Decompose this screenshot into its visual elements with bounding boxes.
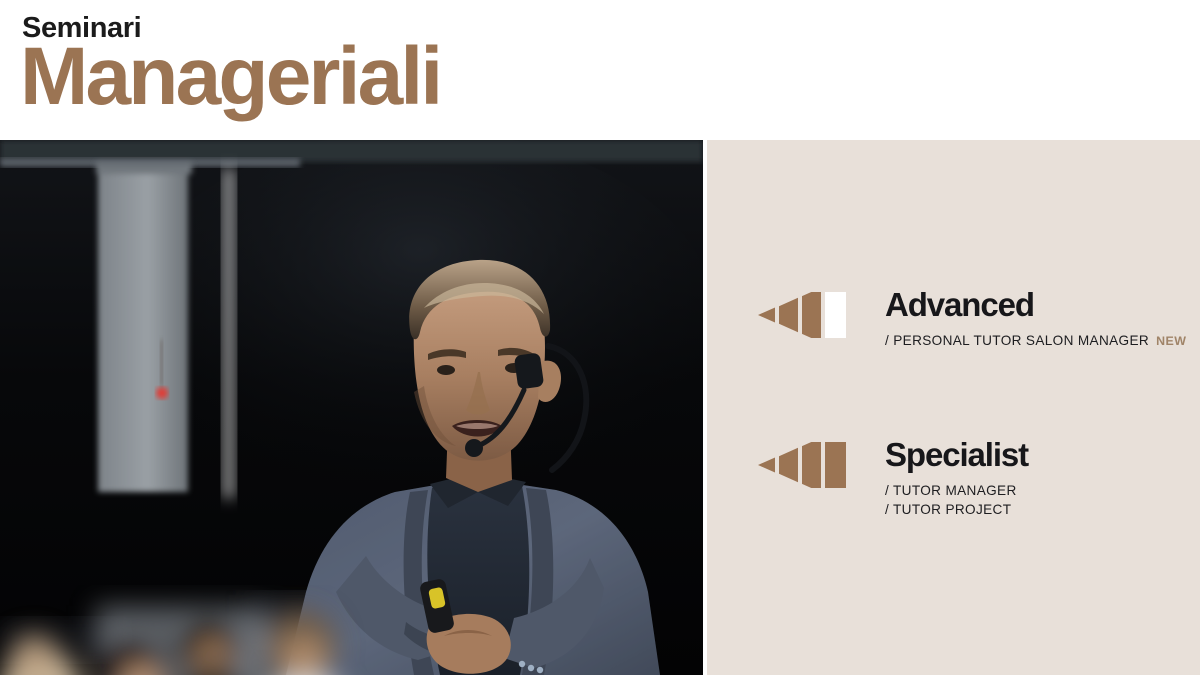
speaker-photo-illustration bbox=[0, 140, 703, 675]
chevron-arrow-left-icon bbox=[758, 292, 848, 338]
tier-item-label: / TUTOR MANAGER bbox=[885, 483, 1017, 498]
tier-item-label: / TUTOR PROJECT bbox=[885, 502, 1011, 517]
tier-body-specialist: Specialist / TUTOR MANAGER / TUTOR PROJE… bbox=[885, 438, 1200, 520]
tier-item-label: / PERSONAL TUTOR SALON MANAGER bbox=[885, 333, 1149, 348]
status-badge-new: NEW bbox=[1156, 334, 1186, 348]
tier-item[interactable]: / PERSONAL TUTOR SALON MANAGERNEW bbox=[885, 331, 1200, 351]
chevron-arrow-left-icon bbox=[758, 442, 848, 488]
page-title: Manageriali bbox=[20, 36, 440, 118]
tier-item-list-specialist: / TUTOR MANAGER / TUTOR PROJECT bbox=[885, 481, 1200, 520]
slide-header: Seminari Manageriali bbox=[0, 0, 1200, 139]
tier-item[interactable]: / TUTOR MANAGER bbox=[885, 481, 1200, 501]
slide-root: Seminari Manageriali bbox=[0, 0, 1200, 675]
speaker-photo bbox=[0, 140, 703, 675]
tier-name-advanced: Advanced bbox=[885, 288, 1200, 323]
tier-item-list-advanced: / PERSONAL TUTOR SALON MANAGERNEW bbox=[885, 331, 1200, 351]
tier-name-specialist: Specialist bbox=[885, 438, 1200, 473]
tier-item[interactable]: / TUTOR PROJECT bbox=[885, 500, 1200, 520]
tier-panel: Advanced / PERSONAL TUTOR SALON MANAGERN… bbox=[707, 140, 1200, 675]
tier-body-advanced: Advanced / PERSONAL TUTOR SALON MANAGERN… bbox=[885, 288, 1200, 351]
